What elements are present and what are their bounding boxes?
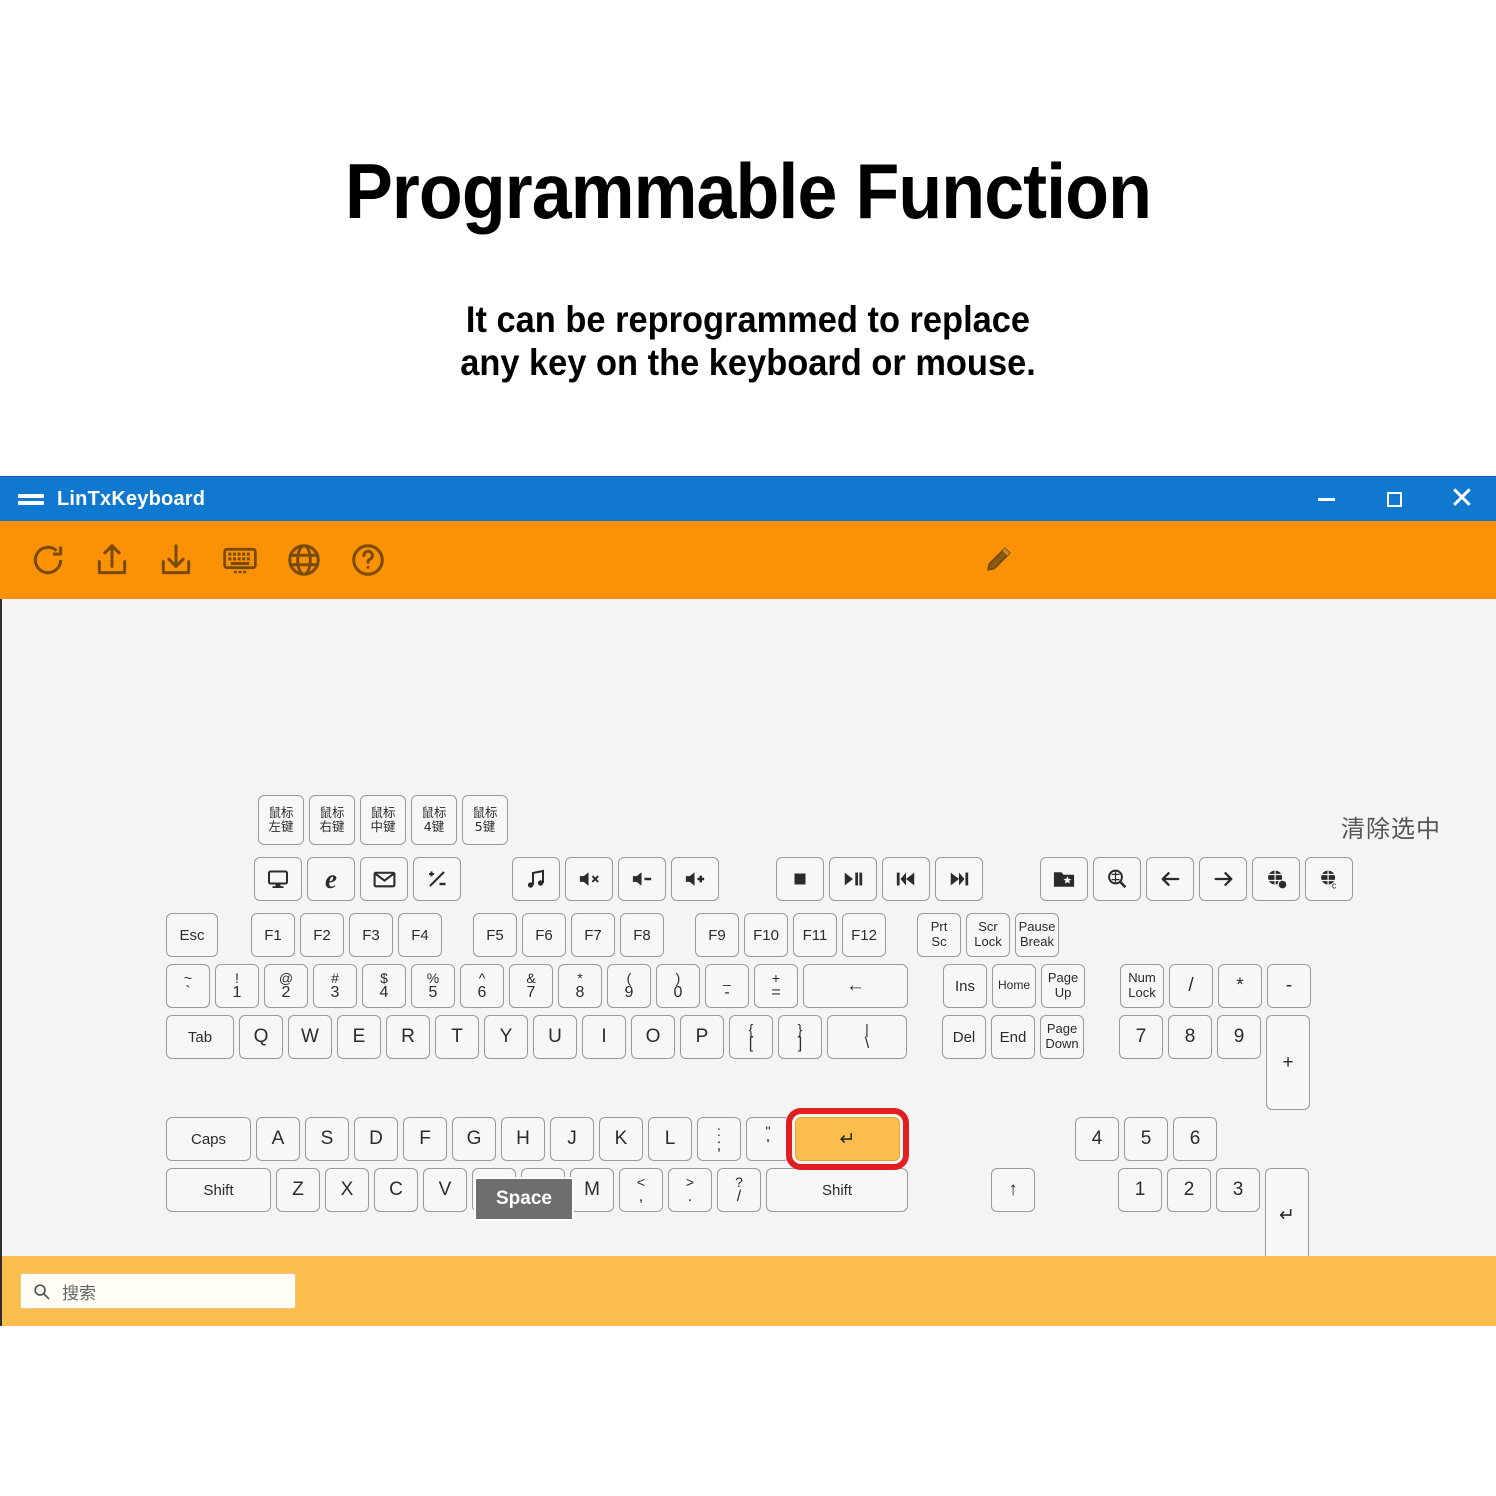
key-numpad-4[interactable]: 4 xyxy=(1075,1117,1119,1161)
key-p[interactable]: P xyxy=(680,1015,724,1059)
web-refresh-icon: c xyxy=(1317,867,1342,891)
key-mouse-middle[interactable]: 鼠标中键 xyxy=(360,795,406,845)
key-r[interactable]: R xyxy=(386,1015,430,1059)
key-mail[interactable] xyxy=(360,857,408,901)
key-1[interactable]: !1 xyxy=(215,964,259,1008)
key-label-bottom: - xyxy=(724,985,729,1001)
function-key-row: Esc F1 F2 F3 F4 F5 F6 F7 F8 F9 F10 F11 F… xyxy=(166,913,1358,957)
key-w[interactable]: W xyxy=(288,1015,332,1059)
key-label-top: @ xyxy=(279,971,293,985)
key-mouse-4[interactable]: 鼠标4键 xyxy=(411,795,457,845)
key-mouse-right[interactable]: 鼠标右键 xyxy=(309,795,355,845)
key-tab[interactable]: Tab xyxy=(166,1015,234,1059)
key-label-bottom: , xyxy=(639,1189,643,1205)
key-label-bottom: 3 xyxy=(331,985,340,1001)
key-label-top: < xyxy=(637,1175,645,1189)
number-key-row: ~` !1 @2 #3 $4 %5 ^6 &7 *8 (9 )0 _- += ←… xyxy=(166,964,1358,1008)
key-shift-right[interactable]: Shift xyxy=(766,1168,908,1212)
key-c[interactable]: C xyxy=(374,1168,418,1212)
key-web-stop[interactable] xyxy=(1252,857,1300,901)
key-play-pause[interactable] xyxy=(829,857,877,901)
qwerty-key-row: Tab Q W E R T Y U I O P {[ }] |\ Del End… xyxy=(166,1015,1358,1110)
language-button[interactable] xyxy=(274,530,334,590)
key-caps-lock[interactable]: Caps xyxy=(166,1117,251,1161)
key-slash[interactable]: ?/ xyxy=(717,1168,761,1212)
help-icon xyxy=(349,541,387,579)
previous-track-icon xyxy=(894,868,918,890)
key-label-top: * xyxy=(577,971,582,985)
key-numpad-2[interactable]: 2 xyxy=(1167,1168,1211,1212)
key-label-bottom: Lock xyxy=(974,935,1001,950)
maximize-icon xyxy=(1387,492,1402,507)
key-label-bottom: Up xyxy=(1055,986,1072,1001)
key-numpad-multiply[interactable]: * xyxy=(1218,964,1262,1008)
key-label-bottom: . xyxy=(688,1189,692,1205)
key-f[interactable]: F xyxy=(403,1117,447,1161)
key-label-bottom: 1 xyxy=(233,985,242,1001)
key-label-top: : xyxy=(717,1124,721,1138)
key-label-top: 鼠标 xyxy=(472,806,497,820)
key-end[interactable]: End xyxy=(991,1015,1035,1059)
key-2[interactable]: @2 xyxy=(264,964,308,1008)
key-label-top: # xyxy=(331,971,339,985)
key-insert[interactable]: Ins xyxy=(943,964,987,1008)
next-track-icon xyxy=(947,868,971,890)
key-label-top: % xyxy=(427,971,439,985)
key-label-bottom: 2 xyxy=(282,985,291,1001)
mouse-button-row: 鼠标左键 鼠标右键 鼠标中键 鼠标4键 鼠标5键 xyxy=(258,795,1358,845)
key-f9[interactable]: F9 xyxy=(695,913,739,957)
close-icon: ✕ xyxy=(1449,484,1474,514)
key-volume-down[interactable] xyxy=(618,857,666,901)
web-stop-icon xyxy=(1264,867,1289,891)
search-icon xyxy=(33,1283,50,1300)
web-search-icon xyxy=(1105,867,1129,891)
shift-key-row: Shift Z X C V B N M <, >. ?/ Shift ↑ 1 2… xyxy=(166,1168,1358,1263)
key-label-top: Page xyxy=(1048,971,1078,986)
promo-header: Programmable Function It can be reprogra… xyxy=(0,0,1496,476)
page-title: Programmable Function xyxy=(60,0,1436,230)
key-volume-up[interactable] xyxy=(671,857,719,901)
key-label-top: _ xyxy=(723,971,731,985)
key-home[interactable]: Home xyxy=(992,964,1036,1008)
svg-text:c: c xyxy=(1331,881,1336,891)
key-backspace[interactable]: ← xyxy=(803,964,908,1008)
app-window: LinTxKeyboard ✕ xyxy=(0,476,1496,1326)
space-key-tooltip: Space xyxy=(474,1177,574,1221)
key-h[interactable]: H xyxy=(501,1117,545,1161)
key-back[interactable] xyxy=(1146,857,1194,901)
key-label-bottom: \ xyxy=(865,1036,869,1052)
key-label-top: ^ xyxy=(479,971,486,985)
key-esc[interactable]: Esc xyxy=(166,913,218,957)
calculator-icon xyxy=(425,867,449,891)
media-shortcut-row: e xyxy=(254,857,1358,901)
download-button[interactable] xyxy=(146,530,206,590)
upload-button[interactable] xyxy=(82,530,142,590)
key-label-bottom: Break xyxy=(1020,935,1054,950)
play-pause-icon xyxy=(841,868,865,890)
key-k[interactable]: K xyxy=(599,1117,643,1161)
key-f4[interactable]: F4 xyxy=(398,913,442,957)
forward-arrow-icon xyxy=(1211,867,1236,891)
key-e[interactable]: E xyxy=(337,1015,381,1059)
key-label-bottom: Lock xyxy=(1128,986,1155,1001)
key-calculator[interactable] xyxy=(413,857,461,901)
keyboard-logo-icon xyxy=(18,491,44,507)
key-f5[interactable]: F5 xyxy=(473,913,517,957)
key-label-top: ! xyxy=(235,971,239,985)
key-forward[interactable] xyxy=(1199,857,1247,901)
my-computer-icon xyxy=(266,867,290,891)
key-label-bottom: ' xyxy=(766,1138,769,1154)
key-f10[interactable]: F10 xyxy=(744,913,788,957)
key-previous-track[interactable] xyxy=(882,857,930,901)
key-8[interactable]: *8 xyxy=(558,964,602,1008)
key-z[interactable]: Z xyxy=(276,1168,320,1212)
key-label-top: | xyxy=(865,1022,869,1036)
key-numpad-1[interactable]: 1 xyxy=(1118,1168,1162,1212)
key-numpad-divide[interactable]: / xyxy=(1169,964,1213,1008)
key-6[interactable]: ^6 xyxy=(460,964,504,1008)
key-web-search[interactable] xyxy=(1093,857,1141,901)
key-label-top: & xyxy=(526,971,535,985)
key-label-top: Page xyxy=(1047,1022,1077,1037)
maximize-button[interactable] xyxy=(1360,477,1428,521)
key-period[interactable]: >. xyxy=(668,1168,712,1212)
key-label-bottom: ` xyxy=(185,985,190,1001)
key-page-up[interactable]: PageUp xyxy=(1041,964,1085,1008)
key-numpad-6[interactable]: 6 xyxy=(1173,1117,1217,1161)
close-button[interactable]: ✕ xyxy=(1428,477,1496,521)
key-my-computer[interactable] xyxy=(254,857,302,901)
key-label-bottom: / xyxy=(737,1189,741,1205)
search-box[interactable]: 搜索 xyxy=(20,1273,296,1309)
key-9[interactable]: (9 xyxy=(607,964,651,1008)
key-arrow-up[interactable]: ↑ xyxy=(991,1168,1035,1212)
key-numpad-5[interactable]: 5 xyxy=(1124,1117,1168,1161)
key-label-bottom: 5键 xyxy=(475,820,495,834)
key-m[interactable]: M xyxy=(570,1168,614,1212)
key-quote[interactable]: "' xyxy=(746,1117,790,1161)
key-y[interactable]: Y xyxy=(484,1015,528,1059)
key-label-top: $ xyxy=(380,971,388,985)
key-print-screen[interactable]: PrtSc xyxy=(917,913,961,957)
key-internet-explorer[interactable]: e xyxy=(307,857,355,901)
key-x[interactable]: X xyxy=(325,1168,369,1212)
key-label-bottom: 4键 xyxy=(424,820,444,834)
key-5[interactable]: %5 xyxy=(411,964,455,1008)
key-label-bottom: [ xyxy=(749,1036,753,1052)
music-icon xyxy=(524,867,548,891)
back-arrow-icon xyxy=(1158,867,1183,891)
title-bar: LinTxKeyboard ✕ xyxy=(0,477,1496,521)
home-key-row: Caps A S D F G H J K L :; "' ↵ 4 5 6 xyxy=(166,1117,1358,1161)
globe-icon xyxy=(285,541,323,579)
key-s[interactable]: S xyxy=(305,1117,349,1161)
key-label-top: ) xyxy=(676,971,681,985)
key-label-bottom: 中键 xyxy=(370,820,395,834)
key-stop[interactable] xyxy=(776,857,824,901)
minimize-icon xyxy=(1318,498,1335,501)
key-label-bottom: 6 xyxy=(478,985,487,1001)
key-bracket-right[interactable]: }] xyxy=(778,1015,822,1059)
refresh-button[interactable] xyxy=(18,530,78,590)
key-bracket-left[interactable]: {[ xyxy=(729,1015,773,1059)
key-q[interactable]: Q xyxy=(239,1015,283,1059)
refresh-icon xyxy=(29,541,67,579)
key-label-bottom: 7 xyxy=(527,985,536,1001)
key-f1[interactable]: F1 xyxy=(251,913,295,957)
key-mouse-left[interactable]: 鼠标左键 xyxy=(258,795,304,845)
mute-icon xyxy=(577,867,602,891)
volume-down-icon xyxy=(630,867,655,891)
key-f12[interactable]: F12 xyxy=(842,913,886,957)
key-t[interactable]: T xyxy=(435,1015,479,1059)
key-numpad-9[interactable]: 9 xyxy=(1217,1015,1261,1059)
key-numpad-7[interactable]: 7 xyxy=(1119,1015,1163,1059)
key-u[interactable]: U xyxy=(533,1015,577,1059)
key-label-top: + xyxy=(772,971,780,985)
key-mouse-5[interactable]: 鼠标5键 xyxy=(462,795,508,845)
key-label-top: 鼠标 xyxy=(370,806,395,820)
edit-button[interactable] xyxy=(968,530,1028,590)
virtual-keyboard: 鼠标左键 鼠标右键 鼠标中键 鼠标4键 鼠标5键 e xyxy=(166,795,1358,1321)
key-label-bottom: 4 xyxy=(380,985,389,1001)
key-d[interactable]: D xyxy=(354,1117,398,1161)
key-label-top: 鼠标 xyxy=(319,806,344,820)
key-label-top: } xyxy=(798,1022,803,1036)
help-button[interactable] xyxy=(338,530,398,590)
key-j[interactable]: J xyxy=(550,1117,594,1161)
key-label-bottom: = xyxy=(771,985,780,1001)
subtitle-line-1: It can be reprogrammed to replace xyxy=(52,298,1443,341)
key-numpad-8[interactable]: 8 xyxy=(1168,1015,1212,1059)
stop-icon xyxy=(789,868,811,890)
key-enter[interactable]: ↵ xyxy=(795,1117,900,1161)
upload-icon xyxy=(93,541,131,579)
key-label-bottom: Down xyxy=(1045,1037,1078,1052)
key-0[interactable]: )0 xyxy=(656,964,700,1008)
key-favorites[interactable] xyxy=(1040,857,1088,901)
key-label-top: ( xyxy=(627,971,632,985)
key-f8[interactable]: F8 xyxy=(620,913,664,957)
key-label-bottom: 8 xyxy=(576,985,585,1001)
key-label-top: Prt xyxy=(931,920,948,935)
internet-explorer-icon: e xyxy=(325,864,337,895)
key-label-top: 鼠标 xyxy=(421,806,446,820)
key-shift-left[interactable]: Shift xyxy=(166,1168,271,1212)
key-label-bottom: 右键 xyxy=(319,820,344,834)
key-label-bottom: ; xyxy=(717,1138,721,1154)
key-minus[interactable]: _- xyxy=(705,964,749,1008)
key-comma[interactable]: <, xyxy=(619,1168,663,1212)
key-label-bottom: 左键 xyxy=(268,820,293,834)
key-scroll-lock[interactable]: ScrLock xyxy=(966,913,1010,957)
key-l[interactable]: L xyxy=(648,1117,692,1161)
key-label-bottom: Sc xyxy=(931,935,946,950)
keyboard-icon xyxy=(220,540,260,580)
key-equals[interactable]: += xyxy=(754,964,798,1008)
key-label-top: Pause xyxy=(1019,920,1056,935)
edit-pencil-icon xyxy=(981,543,1015,577)
key-delete[interactable]: Del xyxy=(942,1015,986,1059)
key-label-bottom: ] xyxy=(798,1036,802,1052)
window-controls: ✕ xyxy=(1292,477,1496,521)
key-3[interactable]: #3 xyxy=(313,964,357,1008)
key-numpad-3[interactable]: 3 xyxy=(1216,1168,1260,1212)
key-label-top: ~ xyxy=(184,971,192,985)
key-f11[interactable]: F11 xyxy=(793,913,837,957)
mail-icon xyxy=(372,867,397,892)
key-num-lock[interactable]: NumLock xyxy=(1120,964,1164,1008)
footer-bar: 搜索 xyxy=(0,1256,1496,1326)
key-f6[interactable]: F6 xyxy=(522,913,566,957)
key-semicolon[interactable]: :; xyxy=(697,1117,741,1161)
keyboard-canvas: 清除选中 鼠标左键 鼠标右键 鼠标中键 鼠标4键 鼠标5键 e xyxy=(0,599,1496,1259)
key-label-bottom: 5 xyxy=(429,985,438,1001)
key-label-top: Scr xyxy=(978,920,998,935)
key-next-track[interactable] xyxy=(935,857,983,901)
key-o[interactable]: O xyxy=(631,1015,675,1059)
subtitle-line-2: any key on the keyboard or mouse. xyxy=(52,341,1443,384)
key-label-top: ? xyxy=(735,1175,743,1189)
key-label-top: " xyxy=(766,1124,771,1138)
key-backslash[interactable]: |\ xyxy=(827,1015,907,1059)
key-label-bottom: 0 xyxy=(674,985,683,1001)
key-label-top: 鼠标 xyxy=(268,806,293,820)
key-g[interactable]: G xyxy=(452,1117,496,1161)
page-subtitle: It can be reprogrammed to replace any ke… xyxy=(52,298,1443,385)
key-f7[interactable]: F7 xyxy=(571,913,615,957)
key-page-down[interactable]: PageDown xyxy=(1040,1015,1084,1059)
key-numpad-plus[interactable]: + xyxy=(1266,1015,1310,1110)
key-a[interactable]: A xyxy=(256,1117,300,1161)
key-music[interactable] xyxy=(512,857,560,901)
key-f2[interactable]: F2 xyxy=(300,913,344,957)
favorites-icon xyxy=(1052,867,1077,891)
key-web-refresh[interactable]: c xyxy=(1305,857,1353,901)
key-7[interactable]: &7 xyxy=(509,964,553,1008)
key-numpad-minus[interactable]: - xyxy=(1267,964,1311,1008)
volume-up-icon xyxy=(683,867,708,891)
key-label-top: > xyxy=(686,1175,694,1189)
key-mute[interactable] xyxy=(565,857,613,901)
key-backtick[interactable]: ~` xyxy=(166,964,210,1008)
minimize-button[interactable] xyxy=(1292,477,1360,521)
key-label-top: { xyxy=(749,1022,754,1036)
key-label-top: Num xyxy=(1128,971,1155,986)
search-placeholder: 搜索 xyxy=(62,1279,96,1304)
download-icon xyxy=(157,541,195,579)
key-numpad-enter[interactable]: ↵ xyxy=(1265,1168,1309,1263)
key-pause-break[interactable]: PauseBreak xyxy=(1015,913,1059,957)
key-label-bottom: 9 xyxy=(625,985,634,1001)
toolbar xyxy=(0,521,1496,599)
keyboard-button[interactable] xyxy=(210,530,270,590)
key-f3[interactable]: F3 xyxy=(349,913,393,957)
key-4[interactable]: $4 xyxy=(362,964,406,1008)
app-title: LinTxKeyboard xyxy=(57,488,205,511)
key-i[interactable]: I xyxy=(582,1015,626,1059)
key-v[interactable]: V xyxy=(423,1168,467,1212)
